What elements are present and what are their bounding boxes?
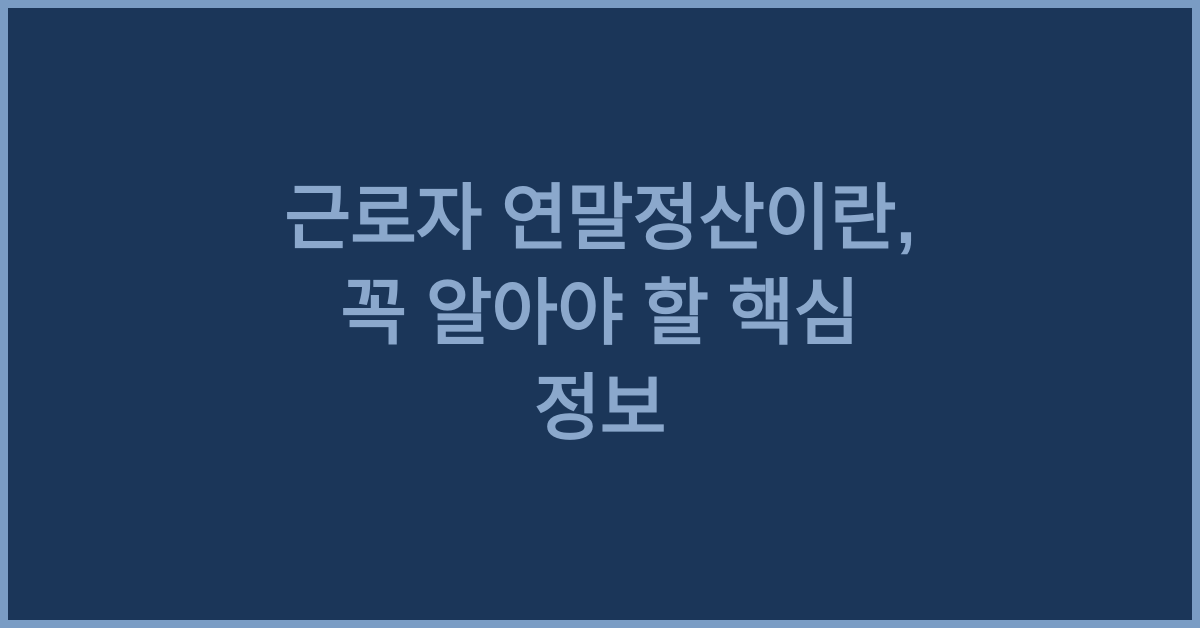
thumbnail-card: 근로자 연말정산이란, 꼭 알아야 할 핵심 정보 bbox=[0, 0, 1200, 628]
page-title: 근로자 연말정산이란, 꼭 알아야 할 핵심 정보 bbox=[280, 172, 920, 457]
card-content-area: 근로자 연말정산이란, 꼭 알아야 할 핵심 정보 bbox=[8, 8, 1192, 620]
title-block: 근로자 연말정산이란, 꼭 알아야 할 핵심 정보 bbox=[280, 172, 920, 457]
